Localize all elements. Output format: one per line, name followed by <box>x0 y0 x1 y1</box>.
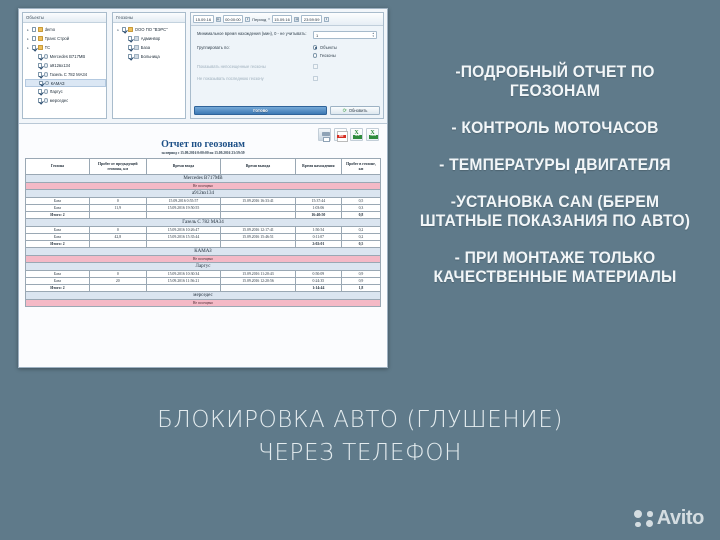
expander-icon[interactable]: ▸ <box>116 28 120 32</box>
vehicle-icon <box>45 81 50 86</box>
report-group-header: Газель С 782 МА34 <box>26 219 381 227</box>
report-total-cell-0: Итого: 2 <box>26 285 90 292</box>
geozone-node-label: ООО ПО "ВЭРС" <box>135 27 168 32</box>
report-cell-1: 20 <box>89 278 146 285</box>
geozone-icon <box>134 45 140 49</box>
promo-line-3: -УСТАНОВКА CAN (БЕРЕМ ШТАТНЫЕ ПОКАЗАНИЯ … <box>409 192 702 230</box>
group-by-label: Группировать по: <box>197 45 309 51</box>
report-cell-2: 15.09.2016 0:55:57 <box>146 198 221 205</box>
pdf-icon[interactable] <box>334 128 347 141</box>
report-cell-4: 0:24:35 <box>295 278 341 285</box>
report-cell-3: 15.09.2016 16:33:41 <box>221 198 296 205</box>
report-cell-3: 15.09.2016 11:20:43 <box>221 271 296 278</box>
submit-button[interactable]: Готово <box>194 106 327 115</box>
geozone-node-label: База <box>141 45 150 50</box>
checkbox-icon-disabled <box>313 64 318 69</box>
object-node-label: demo <box>45 27 55 32</box>
bottom-headline-line2: ЧЕРЕЗ ТЕЛЕФОН <box>0 437 720 470</box>
report-subtitle: за период с 15.09.2016 0:00:00 по 15.09.… <box>25 151 381 155</box>
report-cell-1: 0 <box>89 198 146 205</box>
report-empty-text: Не посещено <box>26 183 381 190</box>
disabled-options: Показывать непосещенные геозоныНе показы… <box>197 64 377 82</box>
expander-spacer <box>32 90 36 94</box>
report-cell-2: 15.09.2016 11:56:21 <box>146 278 221 285</box>
group-by-option-label: Объекты <box>320 45 337 50</box>
report-total-cell-2 <box>146 212 221 219</box>
vehicle-icon <box>44 72 49 77</box>
report-area: Отчет по геозонам за период с 15.09.2016… <box>19 124 387 367</box>
report-cell-1: 11,9 <box>89 205 146 212</box>
report-cell-5: 0,9 <box>341 271 380 278</box>
geozones-tree[interactable]: ▸ООО ПО "ВЭРС"АдминворБазаБольница <box>113 23 185 61</box>
report-cell-1: 0 <box>89 271 146 278</box>
report-empty-text: Не посещено <box>26 300 381 307</box>
report-total-cell-1 <box>89 285 146 292</box>
report-group-name: КАМАЗ <box>26 248 381 256</box>
bottom-headline-line1: БЛОКИРОВКА АВТО (ГЛУШЕНИЕ) <box>0 404 720 437</box>
geozone-icon <box>134 36 140 40</box>
object-node-0[interactable]: ▸demo <box>25 25 106 34</box>
refresh-label: Обновить <box>349 108 368 113</box>
stepper-arrows-icon[interactable]: ▴▾ <box>372 32 374 38</box>
report-cell-2: 15.09.2016 19:50:55 <box>146 205 221 212</box>
report-cell-3: 15.09.2016 15:46:51 <box>221 234 296 241</box>
checkbox-icon[interactable] <box>38 98 43 103</box>
report-total-cell-2 <box>146 241 221 248</box>
report-column-header-4: Время нахождения <box>295 159 341 175</box>
disabled-option-1: Не показывать последнюю геозону <box>197 76 377 82</box>
settings-panel: 15.09.16 ▤ 00:00:00 ▾ Период ▾ 15.09.16 … <box>190 12 384 119</box>
xlsx-icon[interactable] <box>366 128 379 141</box>
time-to-value: 23:59:59 <box>304 17 320 22</box>
report-column-header-3: Время выхода <box>221 159 296 175</box>
min-stay-value: 1 <box>316 33 318 38</box>
group-by-option-1[interactable]: Геозоны <box>313 53 337 58</box>
expander-icon[interactable]: ▸ <box>26 46 30 50</box>
expander-icon[interactable]: ▸ <box>26 37 30 41</box>
object-node-5[interactable]: Газель С 782 МА34 <box>25 70 106 79</box>
date-from-value: 15.09.16 <box>196 17 212 22</box>
geozone-node-1[interactable]: Админвор <box>115 34 185 43</box>
report-cell-0: База <box>26 227 90 234</box>
radio-icon[interactable] <box>313 53 317 57</box>
calendar-icon-2[interactable]: ▤ <box>294 17 299 22</box>
checkbox-icon[interactable] <box>32 36 37 41</box>
checkbox-icon[interactable] <box>128 54 133 59</box>
report-builder-toolbar: Объекты ▸demo▸Транс Строй▸ТСMercedes B71… <box>19 9 387 124</box>
chevron-down-icon-2[interactable]: ▾ <box>324 17 329 22</box>
object-node-label: а912вх134 <box>50 63 71 68</box>
checkbox-icon[interactable] <box>128 36 133 41</box>
report-data-row: База015.09.2016 0:55:5715.09.2016 16:33:… <box>26 198 381 205</box>
expander-icon[interactable]: ▸ <box>26 28 30 32</box>
report-total-cell-3 <box>221 241 296 248</box>
report-cell-4: 0:50:09 <box>295 271 341 278</box>
report-cell-0: База <box>26 271 90 278</box>
report-total-cell-1 <box>89 241 146 248</box>
report-total-row: Итого: 22:02:010,5 <box>26 241 381 248</box>
report-group-name: Mercedes B717MB <box>26 175 381 183</box>
geozones-panel[interactable]: Геозоны ▸ООО ПО "ВЭРС"АдминворБазаБольни… <box>112 12 186 119</box>
embedded-screenshot: Объекты ▸demo▸Транс Строй▸ТСMercedes B71… <box>18 8 388 368</box>
checkbox-icon[interactable] <box>38 63 43 68</box>
report-cell-4: 1:50:54 <box>295 227 341 234</box>
folder-icon <box>38 45 44 49</box>
checkbox-icon[interactable] <box>39 81 44 86</box>
report-total-cell-1 <box>89 212 146 219</box>
report-header-row: ГеозонаПробег от предыдущей геозоны, кмВ… <box>26 159 381 175</box>
expander-spacer <box>32 55 36 59</box>
avito-logo-icon <box>634 510 653 527</box>
report-cell-4: 1:03:06 <box>295 205 341 212</box>
group-by-option-0[interactable]: Объекты <box>313 45 337 50</box>
checkbox-icon[interactable] <box>38 54 43 59</box>
geozone-node-label: Админвор <box>141 36 161 41</box>
folder-icon <box>38 27 44 31</box>
report-cell-0: База <box>26 278 90 285</box>
vehicle-icon <box>44 89 49 94</box>
min-stay-row: Минимальное время нахождения (мин), 0 - … <box>197 31 377 39</box>
report-empty-text: Не посещено <box>26 256 381 263</box>
object-node-7[interactable]: Ларгус <box>25 87 106 96</box>
settings-body: Минимальное время нахождения (мин), 0 - … <box>191 26 383 104</box>
object-node-label: ТС <box>45 45 51 50</box>
group-by-option-label: Геозоны <box>320 53 336 58</box>
report-column-header-5: Пробег в геозоне, км <box>341 159 380 175</box>
report-total-cell-3 <box>221 285 296 292</box>
xls-icon[interactable] <box>350 128 363 141</box>
object-node-label: Ларгус <box>50 89 63 94</box>
report-total-row: Итого: 216:40:500,8 <box>26 212 381 219</box>
report-total-cell-4: 16:40:50 <box>295 212 341 219</box>
object-node-label: КАМАЗ <box>51 81 65 86</box>
checkbox-icon[interactable] <box>122 27 127 32</box>
object-node-3[interactable]: Mercedes B717MB <box>25 52 106 61</box>
vehicle-icon <box>44 98 49 103</box>
report-data-row: База015.09.2016 10:30:3415.09.2016 11:20… <box>26 271 381 278</box>
report-group-header: Mercedes B717MB <box>26 175 381 183</box>
objects-panel-header: Объекты <box>23 13 106 23</box>
report-cell-5: 0,2 <box>341 227 380 234</box>
report-group-header: а912вх134 <box>26 190 381 198</box>
report-cell-2: 15.09.2016 10:30:34 <box>146 271 221 278</box>
geozones-panel-header: Геозоны <box>113 13 185 23</box>
report-cell-0: База <box>26 234 90 241</box>
time-from-field[interactable]: 00:00:00 <box>223 15 244 23</box>
promo-text-block: -ПОДРОБНЫЙ ОТЧЕТ ПО ГЕОЗОНАМ- КОНТРОЛЬ М… <box>396 62 714 304</box>
object-node-label: Транс Строй <box>45 36 70 41</box>
promo-line-2: - ТЕМПЕРАТУРЫ ДВИГАТЕЛЯ <box>409 155 702 174</box>
report-group-name: мерседес <box>26 292 381 300</box>
period-chevron-down-icon[interactable]: ▾ <box>268 17 270 21</box>
expander-spacer <box>122 37 126 41</box>
report-total-cell-0: Итого: 2 <box>26 212 90 219</box>
expander-spacer <box>32 73 36 77</box>
report-cell-0: База <box>26 205 90 212</box>
promo-line-4: - ПРИ МОНТАЖЕ ТОЛЬКО КАЧЕСТВЕННЫЕ МАТЕРИ… <box>409 248 702 286</box>
object-node-6[interactable]: КАМАЗ <box>25 79 106 87</box>
object-node-8[interactable]: мерседес <box>25 96 106 105</box>
checkbox-icon[interactable] <box>38 89 43 94</box>
object-node-label: Mercedes B717MB <box>50 54 86 59</box>
geozone-node-label: Больница <box>141 54 160 59</box>
date-to-value: 15.09.16 <box>274 17 290 22</box>
report-total-row: Итого: 21:14:441,8 <box>26 285 381 292</box>
datetime-toolbar: 15.09.16 ▤ 00:00:00 ▾ Период ▾ 15.09.16 … <box>191 13 383 26</box>
refresh-button[interactable]: ⟳ Обновить <box>330 106 380 115</box>
period-label: Период <box>252 17 266 22</box>
expander-spacer <box>32 99 36 103</box>
report-cell-5: 0,5 <box>341 198 380 205</box>
checkbox-icon[interactable] <box>38 72 43 77</box>
bottom-headline: БЛОКИРОВКА АВТО (ГЛУШЕНИЕ) ЧЕРЕЗ ТЕЛЕФОН <box>0 404 720 470</box>
report-table-body: Mercedes B717MBНе посещеноа912вх134База0… <box>26 175 381 307</box>
checkbox-icon[interactable] <box>128 45 133 50</box>
report-total-cell-4: 2:02:01 <box>295 241 341 248</box>
report-cell-3 <box>221 205 296 212</box>
group-by-radios[interactable]: ОбъектыГеозоны <box>313 45 337 58</box>
report-data-row: База015.09.2016 10:26:4715.09.2016 12:17… <box>26 227 381 234</box>
report-total-cell-5: 0,5 <box>341 241 380 248</box>
report-table: ГеозонаПробег от предыдущей геозоны, кмВ… <box>25 158 381 307</box>
report-total-cell-5: 1,8 <box>341 285 380 292</box>
report-data-row: База2015.09.2016 11:56:2115.09.2016 12:2… <box>26 278 381 285</box>
expander-spacer <box>32 64 36 68</box>
object-node-2[interactable]: ▸ТС <box>25 43 106 52</box>
checkbox-icon[interactable] <box>32 45 37 50</box>
report-total-cell-5: 0,8 <box>341 212 380 219</box>
report-cell-3: 15.09.2016 12:17:41 <box>221 227 296 234</box>
vehicle-icon <box>44 63 49 68</box>
report-data-row: База11,915.09.2016 19:50:551:03:060,3 <box>26 205 381 212</box>
calendar-icon[interactable]: ▤ <box>216 17 221 22</box>
min-stay-label: Минимальное время нахождения (мин), 0 - … <box>197 31 309 37</box>
time-from-value: 00:00:00 <box>225 17 241 22</box>
object-node-4[interactable]: а912вх134 <box>25 61 106 70</box>
avito-watermark: Avito <box>634 507 704 530</box>
report-group-header: КАМАЗ <box>26 248 381 256</box>
checkbox-icon-disabled <box>313 76 318 81</box>
disabled-option-label: Показывать непосещенные геозоны <box>197 64 309 70</box>
folder-icon <box>128 27 134 31</box>
settings-buttons: Готово ⟳ Обновить <box>191 104 383 118</box>
report-group-header: Ларгус <box>26 263 381 271</box>
report-cell-2: 15.09.2016 10:26:47 <box>146 227 221 234</box>
radio-icon[interactable] <box>313 45 317 49</box>
object-node-label: мерседес <box>50 98 69 103</box>
report-empty-row: Не посещено <box>26 300 381 307</box>
objects-panel[interactable]: Объекты ▸demo▸Транс Строй▸ТСMercedes B71… <box>22 12 107 119</box>
report-empty-row: Не посещено <box>26 183 381 190</box>
report-cell-5: 0,3 <box>341 205 380 212</box>
report-cell-2: 15.09.2016 15:35:44 <box>146 234 221 241</box>
report-cell-5: 0,2 <box>341 234 380 241</box>
date-from-field[interactable]: 15.09.16 <box>193 15 214 23</box>
disabled-option-0: Показывать непосещенные геозоны <box>197 64 377 70</box>
object-node-1[interactable]: ▸Транс Строй <box>25 34 106 43</box>
report-group-name: Ларгус <box>26 263 381 271</box>
geozone-node-3[interactable]: Больница <box>115 52 185 61</box>
report-cell-3: 15.09.2016 12:20:56 <box>221 278 296 285</box>
report-group-name: Газель С 782 МА34 <box>26 219 381 227</box>
report-cell-1: 0 <box>89 227 146 234</box>
report-data-row: База42,815.09.2016 15:35:4415.09.2016 15… <box>26 234 381 241</box>
chevron-down-icon[interactable]: ▾ <box>245 17 250 22</box>
date-to-field[interactable]: 15.09.16 <box>272 15 293 23</box>
objects-tree[interactable]: ▸demo▸Транс Строй▸ТСMercedes B717MBа912в… <box>23 23 106 105</box>
expander-spacer <box>122 55 126 59</box>
min-stay-stepper[interactable]: 1 ▴▾ <box>313 31 377 39</box>
print-icon[interactable] <box>318 128 331 141</box>
report-cell-4: 0:11:07 <box>295 234 341 241</box>
report-group-name: а912вх134 <box>26 190 381 198</box>
report-total-cell-2 <box>146 285 221 292</box>
report-column-header-0: Геозона <box>26 159 90 175</box>
object-node-label: Газель С 782 МА34 <box>50 72 87 77</box>
report-group-header: мерседес <box>26 292 381 300</box>
report-table-head: ГеозонаПробег от предыдущей геозоны, кмВ… <box>26 159 381 175</box>
report-total-cell-4: 1:14:44 <box>295 285 341 292</box>
refresh-icon: ⟳ <box>343 108 347 114</box>
report-empty-row: Не посещено <box>26 256 381 263</box>
time-to-field[interactable]: 23:59:59 <box>301 15 322 23</box>
report-cell-4: 15:37:44 <box>295 198 341 205</box>
report-total-cell-3 <box>221 212 296 219</box>
promo-line-0: -ПОДРОБНЫЙ ОТЧЕТ ПО ГЕОЗОНАМ <box>409 62 702 100</box>
folder-icon <box>38 36 44 40</box>
report-cell-5: 0,9 <box>341 278 380 285</box>
disabled-option-label: Не показывать последнюю геозону <box>197 76 309 82</box>
expander-spacer <box>122 46 126 50</box>
report-cell-1: 42,8 <box>89 234 146 241</box>
promo-line-1: - КОНТРОЛЬ МОТОЧАСОВ <box>409 118 702 137</box>
checkbox-icon[interactable] <box>32 27 37 32</box>
geozone-icon <box>134 54 140 58</box>
report-total-cell-0: Итого: 2 <box>26 241 90 248</box>
geozone-node-2[interactable]: База <box>115 43 185 52</box>
report-column-header-1: Пробег от предыдущей геозоны, км <box>89 159 146 175</box>
report-cell-0: База <box>26 198 90 205</box>
vehicle-icon <box>44 54 49 59</box>
avito-label: Avito <box>657 507 704 530</box>
geozone-node-0[interactable]: ▸ООО ПО "ВЭРС" <box>115 25 185 34</box>
group-by-row: Группировать по: ОбъектыГеозоны <box>197 45 377 58</box>
expander-spacer <box>33 81 37 85</box>
report-column-header-2: Время входа <box>146 159 221 175</box>
